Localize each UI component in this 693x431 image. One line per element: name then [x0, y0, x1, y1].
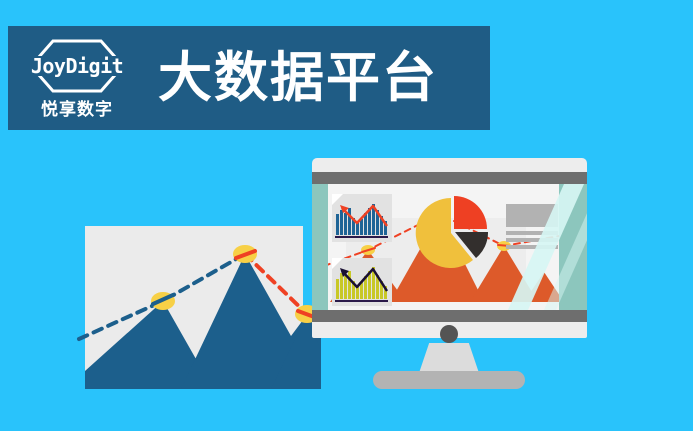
monitor-bottom-bar	[312, 310, 587, 322]
doc-line	[506, 238, 558, 242]
orange-peak-4	[524, 272, 559, 302]
left-mountain-panel	[85, 226, 303, 389]
mountain-area-chart	[85, 196, 321, 389]
poster-canvas: JoyDigit 悦享数字 大数据平台	[0, 0, 693, 431]
pie-slice-red	[454, 196, 487, 229]
monitor-screen	[312, 184, 587, 310]
brand-logo: JoyDigit 悦享数字	[18, 32, 136, 124]
page-title: 大数据平台	[158, 51, 438, 105]
yellow-bar-chart	[332, 258, 392, 306]
header-banner: JoyDigit 悦享数字 大数据平台	[8, 26, 490, 130]
pie-chart	[414, 194, 488, 268]
screen-left-strip	[312, 184, 328, 310]
logo-subtitle: 悦享数字	[41, 101, 113, 118]
blue-bar-chart	[332, 194, 392, 242]
doc-line	[506, 231, 558, 235]
chart-axis	[335, 236, 388, 238]
chart-axis	[335, 300, 388, 302]
monitor-top-bar	[312, 172, 587, 184]
dashboard-canvas	[328, 184, 559, 310]
blue-bar-chart-card	[332, 194, 392, 242]
gray-document-placeholder	[506, 204, 558, 248]
monitor-stand-base	[373, 371, 525, 389]
screen-right-strip	[559, 184, 587, 310]
monitor-power-button[interactable]	[440, 325, 458, 343]
doc-image-block	[506, 204, 558, 227]
desktop-monitor	[312, 158, 587, 389]
logo-hexagon-icon: JoyDigit	[27, 38, 127, 94]
doc-line	[506, 245, 558, 249]
logo-wordmark: JoyDigit	[29, 56, 125, 76]
yellow-bar-chart-card	[332, 258, 392, 306]
